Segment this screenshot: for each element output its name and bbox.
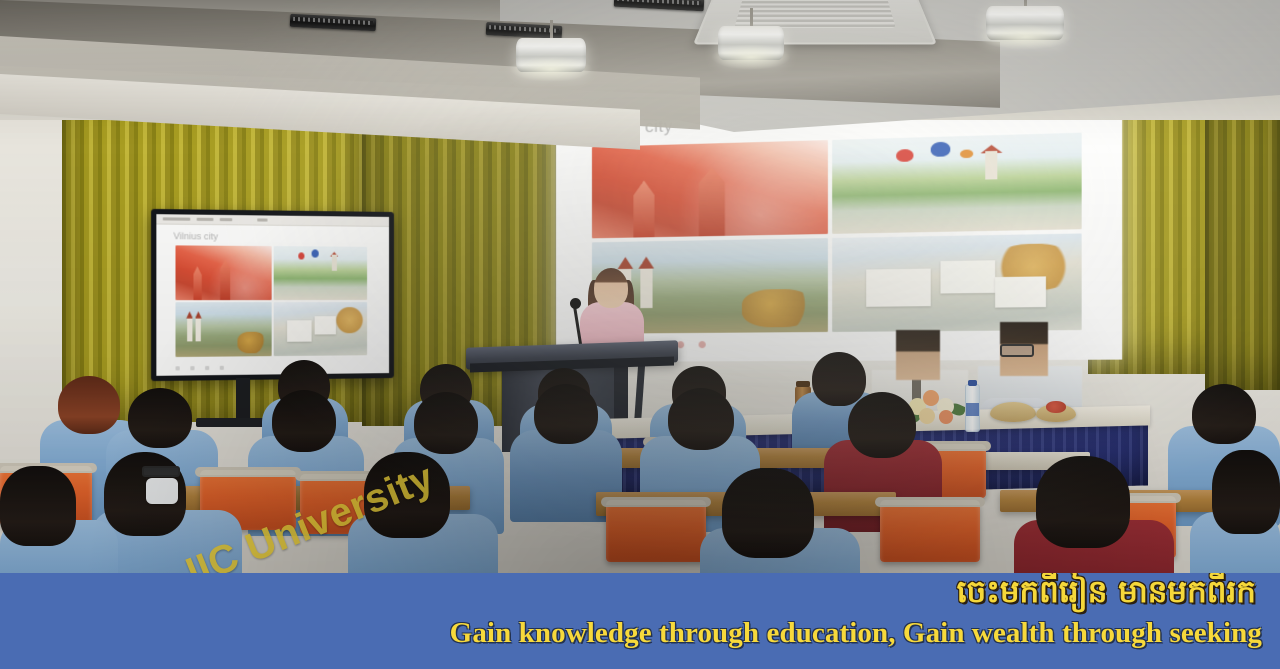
slide-photo-aerial-autumn <box>832 233 1082 331</box>
bottom-banner: ចេះមកពីរៀន មានមកពីរក Gain knowledge thro… <box>0 573 1280 669</box>
banner-khmer-text: ចេះមកពីរៀន មានមកពីរក <box>957 575 1256 609</box>
tv-slide-title: Vilnius city <box>173 231 218 242</box>
classroom-chair <box>880 500 980 562</box>
tv-status-bar <box>175 366 223 371</box>
tv-photo-grid <box>175 245 367 357</box>
projection-photo-grid <box>592 133 1082 334</box>
pendant-lamp-icon <box>516 20 586 80</box>
panel-member-left-head <box>896 330 940 380</box>
snack-basket <box>990 402 1036 422</box>
water-bottle <box>965 384 980 432</box>
tv-monitor: Vilnius city <box>151 209 394 381</box>
slide-photo-park-balloons <box>832 133 1082 234</box>
tv-app-toolbar <box>156 214 389 227</box>
photo-scene: Vilnius city <box>0 0 1280 669</box>
fruit-plate <box>1036 404 1076 422</box>
speaker-head <box>594 268 628 308</box>
microphone-icon <box>570 298 581 309</box>
pendant-lamp-icon <box>986 0 1064 50</box>
classroom-chair <box>606 500 706 562</box>
tv-stand <box>236 378 250 422</box>
pendant-lamp-icon <box>718 8 784 66</box>
banner-tagline: Gain knowledge through education, Gain w… <box>0 617 1262 650</box>
eyeglasses-icon <box>1000 344 1034 357</box>
slide-photo-red-gothic-church <box>592 140 828 238</box>
